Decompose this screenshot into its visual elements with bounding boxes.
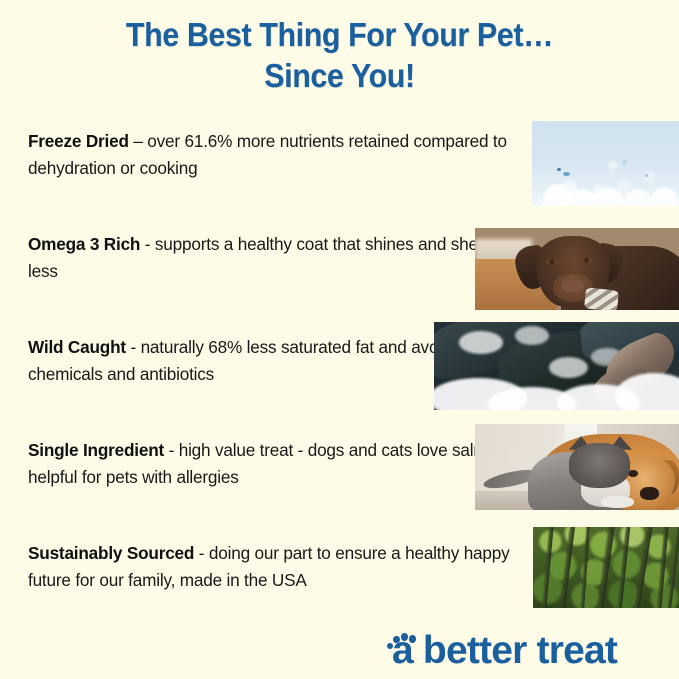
benefit-item-freeze-dried: Freeze Dried – over 61.6% more nutrients… [28,128,528,231]
benefit-term: Wild Caught [28,337,126,357]
water-foam [459,331,503,354]
frost-ice-crystals-photo [532,121,679,206]
dog-collar [584,287,619,310]
ice-crystal-speck [622,160,627,165]
ice-crystal-speck [645,174,648,177]
dog-nose [640,487,658,500]
benefit-item-single-ingredient: Single Ingredient - high value treat - d… [28,437,528,540]
cat-head [569,443,630,488]
benefit-term: Single Ingredient [28,440,164,460]
water-foam [515,326,549,345]
page-title-line-2: Since You! [27,55,652,96]
paw-toe-dot [409,635,416,643]
paw-toe-dot [401,633,408,641]
paw-print-icon [386,630,422,672]
page-title-line-1: The Best Thing For Your Pet… [27,14,652,55]
benefit-item-omega-3-rich: Omega 3 Rich - supports a healthy coat t… [28,231,528,334]
chocolate-labrador-dog-photo [475,228,679,310]
brand-logo: a better treat [386,628,617,674]
cat-paw [601,496,634,508]
benefit-item-sustainably-sourced: Sustainably Sourced - doing our part to … [28,540,528,594]
ice-crystal-speck [563,172,570,176]
cat-and-golden-retriever-photo [475,424,679,510]
ice-crystal-speck [557,168,561,171]
paw-toe-dot [393,636,400,643]
dog-nose [562,280,584,291]
benefit-term: Omega 3 Rich [28,234,140,254]
benefit-term: Freeze Dried [28,131,129,151]
dog-eye-left [546,258,557,265]
green-forest-trees-photo [533,527,679,608]
benefit-term: Sustainably Sourced [28,543,194,563]
paw-toe-dot [387,643,393,649]
page-title: The Best Thing For Your Pet… Since You! [27,14,652,96]
frost-spike [553,192,567,198]
frost-spike [544,191,552,206]
salmon-leaping-rapids-photo [434,322,679,410]
brand-logo-text: a better treat [392,631,617,671]
